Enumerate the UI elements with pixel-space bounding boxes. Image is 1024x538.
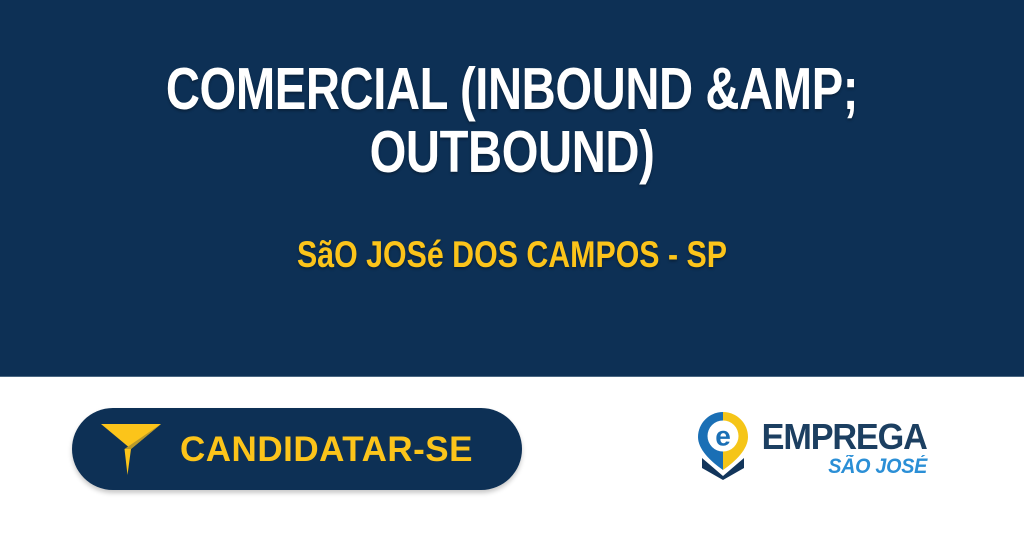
job-location: SãO JOSé DOS CAMPOS - SP — [92, 234, 932, 276]
svg-text:e: e — [715, 421, 731, 452]
send-icon — [100, 421, 162, 477]
brand-logo[interactable]: e EMPREGA SÃO JOSÉ — [697, 413, 927, 487]
footer-section: CANDIDATAR-SE e EMPREGA SÃO JOSÉ — [0, 377, 1024, 537]
job-posting-card: COMERCIAL (INBOUND &AMP; OUTBOUND) SãO J… — [0, 0, 1024, 538]
hero-section: COMERCIAL (INBOUND &AMP; OUTBOUND) SãO J… — [0, 0, 1024, 377]
apply-button-label: CANDIDATAR-SE — [180, 432, 473, 467]
brand-wordmark: EMPREGA SÃO JOSÉ — [753, 419, 927, 478]
map-pin-icon: e — [697, 411, 749, 481]
apply-button[interactable]: CANDIDATAR-SE — [72, 408, 522, 490]
brand-name: EMPREGA — [762, 419, 927, 455]
page-title: COMERCIAL (INBOUND &AMP; OUTBOUND) — [102, 58, 921, 184]
brand-subtitle: SÃO JOSÉ — [828, 456, 927, 478]
